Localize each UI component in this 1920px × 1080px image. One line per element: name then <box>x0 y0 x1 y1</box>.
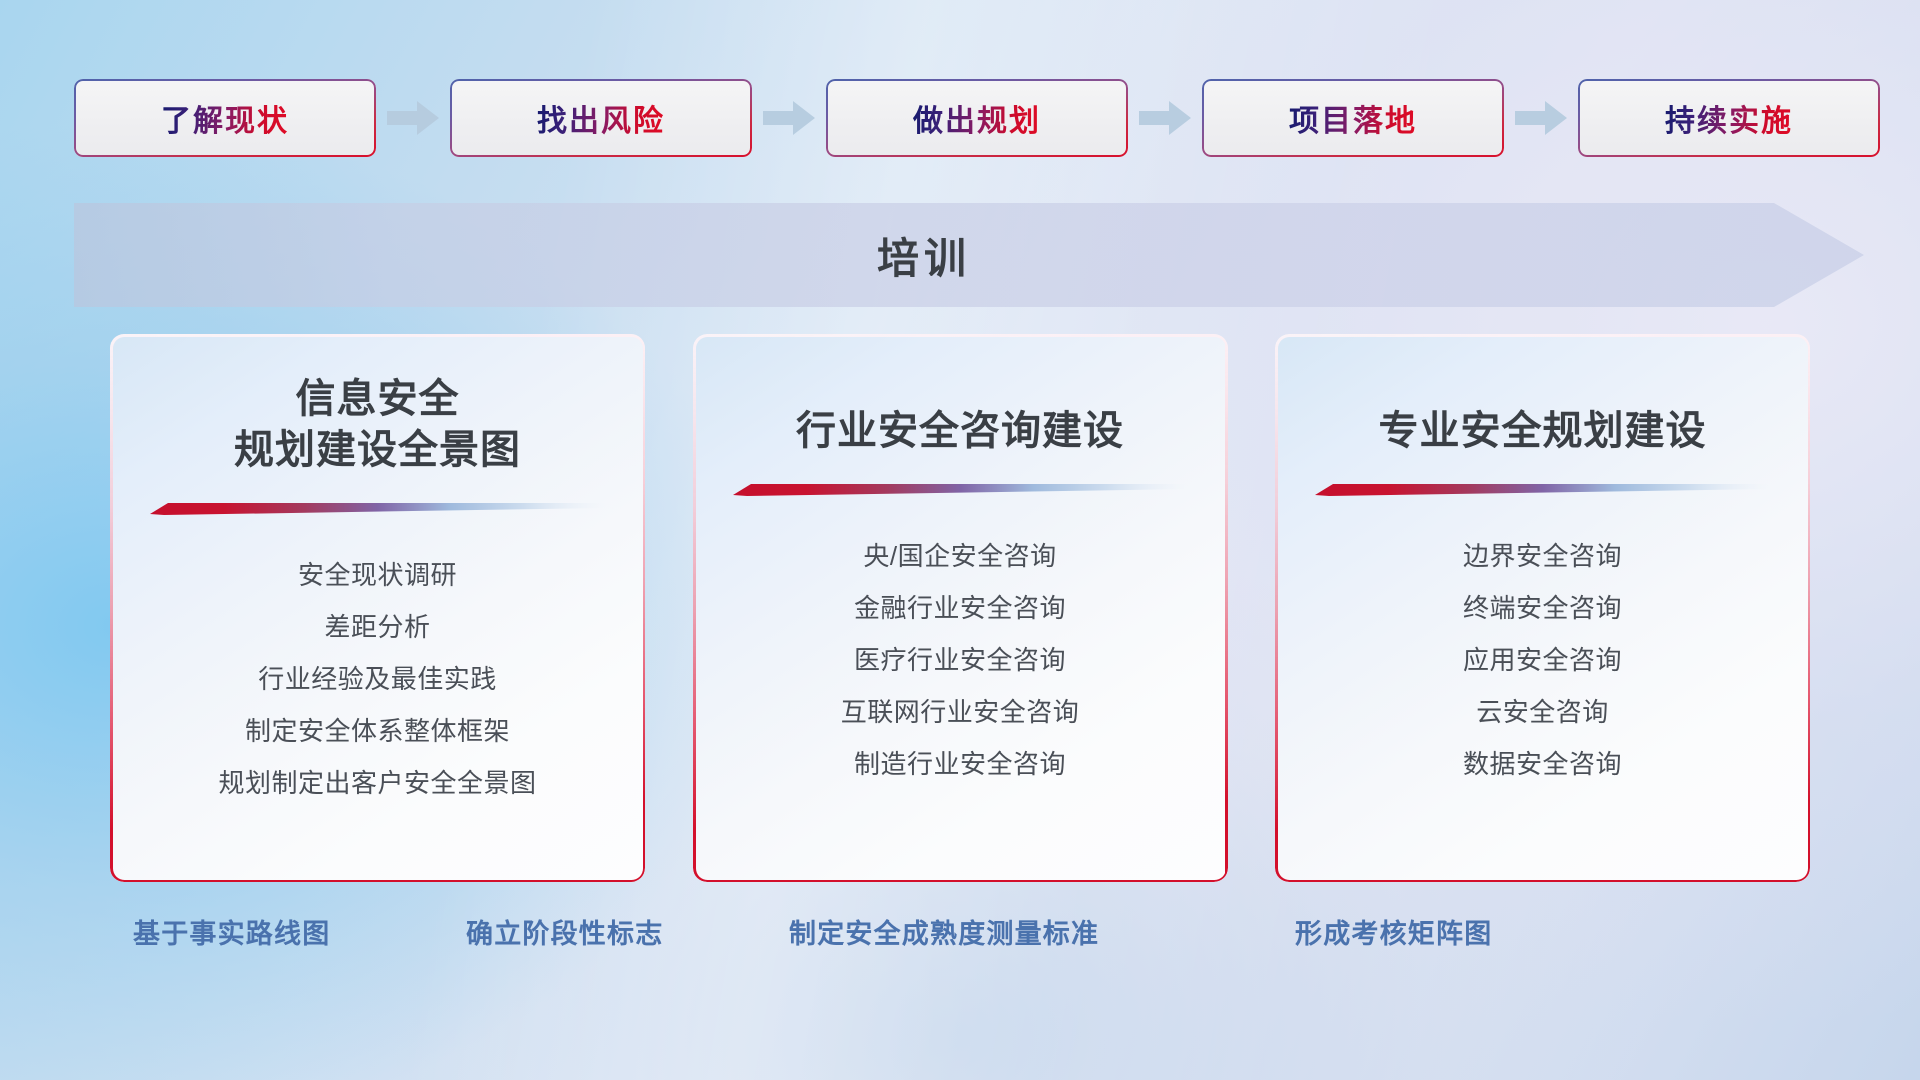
process-step-row: 了解现状 找出风险 做出规划 项目落地 持续实施 <box>74 78 1848 158</box>
step-label-3: 做出规划 <box>913 96 1041 140</box>
step-label-5: 持续实施 <box>1665 96 1793 140</box>
step-arrow-icon-4 <box>1515 98 1567 138</box>
card-3-divider <box>1315 483 1770 496</box>
list-item: 安全现状调研 <box>298 549 457 601</box>
card-3-title: 专业安全规划建设 <box>1379 406 1707 457</box>
caption-3: 制定安全成熟度测量标准 <box>789 912 1099 951</box>
list-item: 医疗行业安全咨询 <box>854 634 1066 686</box>
list-item: 终端安全咨询 <box>1463 582 1622 634</box>
list-item: 云安全咨询 <box>1476 686 1609 738</box>
list-item: 制造行业安全咨询 <box>854 738 1066 790</box>
step-box-3[interactable]: 做出规划 <box>826 79 1128 157</box>
list-item: 制定安全体系整体框架 <box>245 705 510 757</box>
step-label-1: 了解现状 <box>161 96 289 140</box>
card-2[interactable]: 行业安全咨询建设 央/国企安全咨询 金融行业安 <box>693 334 1228 882</box>
list-item: 边界安全咨询 <box>1463 530 1622 582</box>
list-item: 央/国企安全咨询 <box>863 530 1056 582</box>
card-3-list: 边界安全咨询 终端安全咨询 应用安全咨询 云安全咨询 数据安全咨询 <box>1303 530 1782 790</box>
step-box-5[interactable]: 持续实施 <box>1578 79 1880 157</box>
card-1-divider <box>150 502 605 515</box>
step-box-1[interactable]: 了解现状 <box>74 79 376 157</box>
footer-caption-row: 基于事实路线图 确立阶段性标志 制定安全成熟度测量标准 形成考核矩阵图 <box>0 912 1920 968</box>
step-arrow-icon-1 <box>387 98 439 138</box>
step-box-2[interactable]: 找出风险 <box>450 79 752 157</box>
capability-card-row: 信息安全 规划建设全景图 安全现状调研 差距分 <box>110 334 1810 882</box>
step-box-4[interactable]: 项目落地 <box>1202 79 1504 157</box>
card-1-list: 安全现状调研 差距分析 行业经验及最佳实践 制定安全体系整体框架 规划制定出客户… <box>138 549 617 809</box>
card-2-divider <box>733 483 1188 496</box>
banner-title: 培训 <box>74 203 1774 307</box>
step-arrow-icon-2 <box>763 98 815 138</box>
step-arrow-icon-3 <box>1139 98 1191 138</box>
step-label-2: 找出风险 <box>537 96 665 140</box>
list-item: 差距分析 <box>324 601 430 653</box>
list-item: 应用安全咨询 <box>1463 634 1622 686</box>
caption-2: 确立阶段性标志 <box>466 912 663 951</box>
step-label-4: 项目落地 <box>1289 96 1417 140</box>
card-2-title: 行业安全咨询建设 <box>796 406 1124 457</box>
caption-1: 基于事实路线图 <box>133 912 330 951</box>
list-item: 互联网行业安全咨询 <box>841 686 1080 738</box>
caption-4: 形成考核矩阵图 <box>1295 912 1492 951</box>
card-2-list: 央/国企安全咨询 金融行业安全咨询 医疗行业安全咨询 互联网行业安全咨询 制造行… <box>721 530 1200 790</box>
card-3[interactable]: 专业安全规划建设 边界安全咨询 终端安全咨询 <box>1275 334 1810 882</box>
list-item: 金融行业安全咨询 <box>854 582 1066 634</box>
list-item: 数据安全咨询 <box>1463 738 1622 790</box>
card-1[interactable]: 信息安全 规划建设全景图 安全现状调研 差距分 <box>110 334 645 882</box>
training-banner: 培训 <box>74 203 1864 307</box>
card-1-title: 信息安全 规划建设全景图 <box>234 374 521 476</box>
list-item: 行业经验及最佳实践 <box>258 653 497 705</box>
list-item: 规划制定出客户安全全景图 <box>218 757 536 809</box>
